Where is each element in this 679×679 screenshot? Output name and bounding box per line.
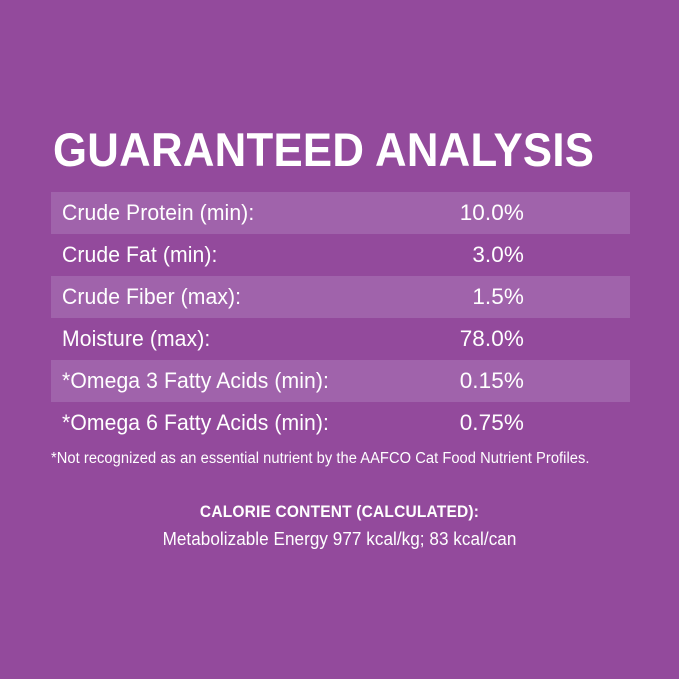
table-row: Crude Protein (min):10.0%	[51, 192, 630, 234]
calorie-content-block: CALORIE CONTENT (CALCULATED): Metaboliza…	[0, 502, 679, 550]
table-row: Crude Fiber (max):1.5%	[51, 276, 630, 318]
footnote-text: *Not recognized as an essential nutrient…	[51, 450, 627, 468]
nutrient-value: 78.0%	[460, 326, 524, 352]
nutrient-label: *Omega 3 Fatty Acids (min):	[62, 368, 329, 394]
guaranteed-analysis-panel: GUARANTEED ANALYSIS Crude Protein (min):…	[0, 0, 679, 679]
table-row: *Omega 6 Fatty Acids (min):0.75%	[51, 402, 630, 444]
nutrient-value: 10.0%	[460, 200, 524, 226]
calorie-content-detail: Metabolizable Energy 977 kcal/kg; 83 kca…	[17, 528, 662, 550]
table-row: Moisture (max):78.0%	[51, 318, 630, 360]
guaranteed-analysis-table: Crude Protein (min):10.0%Crude Fat (min)…	[51, 192, 630, 444]
nutrient-label: Moisture (max):	[62, 326, 210, 352]
nutrient-label: Crude Protein (min):	[62, 200, 254, 226]
nutrient-value: 0.75%	[460, 410, 524, 436]
page-title: GUARANTEED ANALYSIS	[53, 124, 592, 176]
nutrient-value: 1.5%	[472, 284, 524, 310]
nutrient-label: *Omega 6 Fatty Acids (min):	[62, 410, 329, 436]
table-row: Crude Fat (min):3.0%	[51, 234, 630, 276]
nutrient-label: Crude Fiber (max):	[62, 284, 241, 310]
table-row: *Omega 3 Fatty Acids (min):0.15%	[51, 360, 630, 402]
nutrient-value: 3.0%	[472, 242, 524, 268]
nutrient-label: Crude Fat (min):	[62, 242, 217, 268]
calorie-content-heading: CALORIE CONTENT (CALCULATED):	[20, 502, 658, 522]
nutrient-value: 0.15%	[460, 368, 524, 394]
